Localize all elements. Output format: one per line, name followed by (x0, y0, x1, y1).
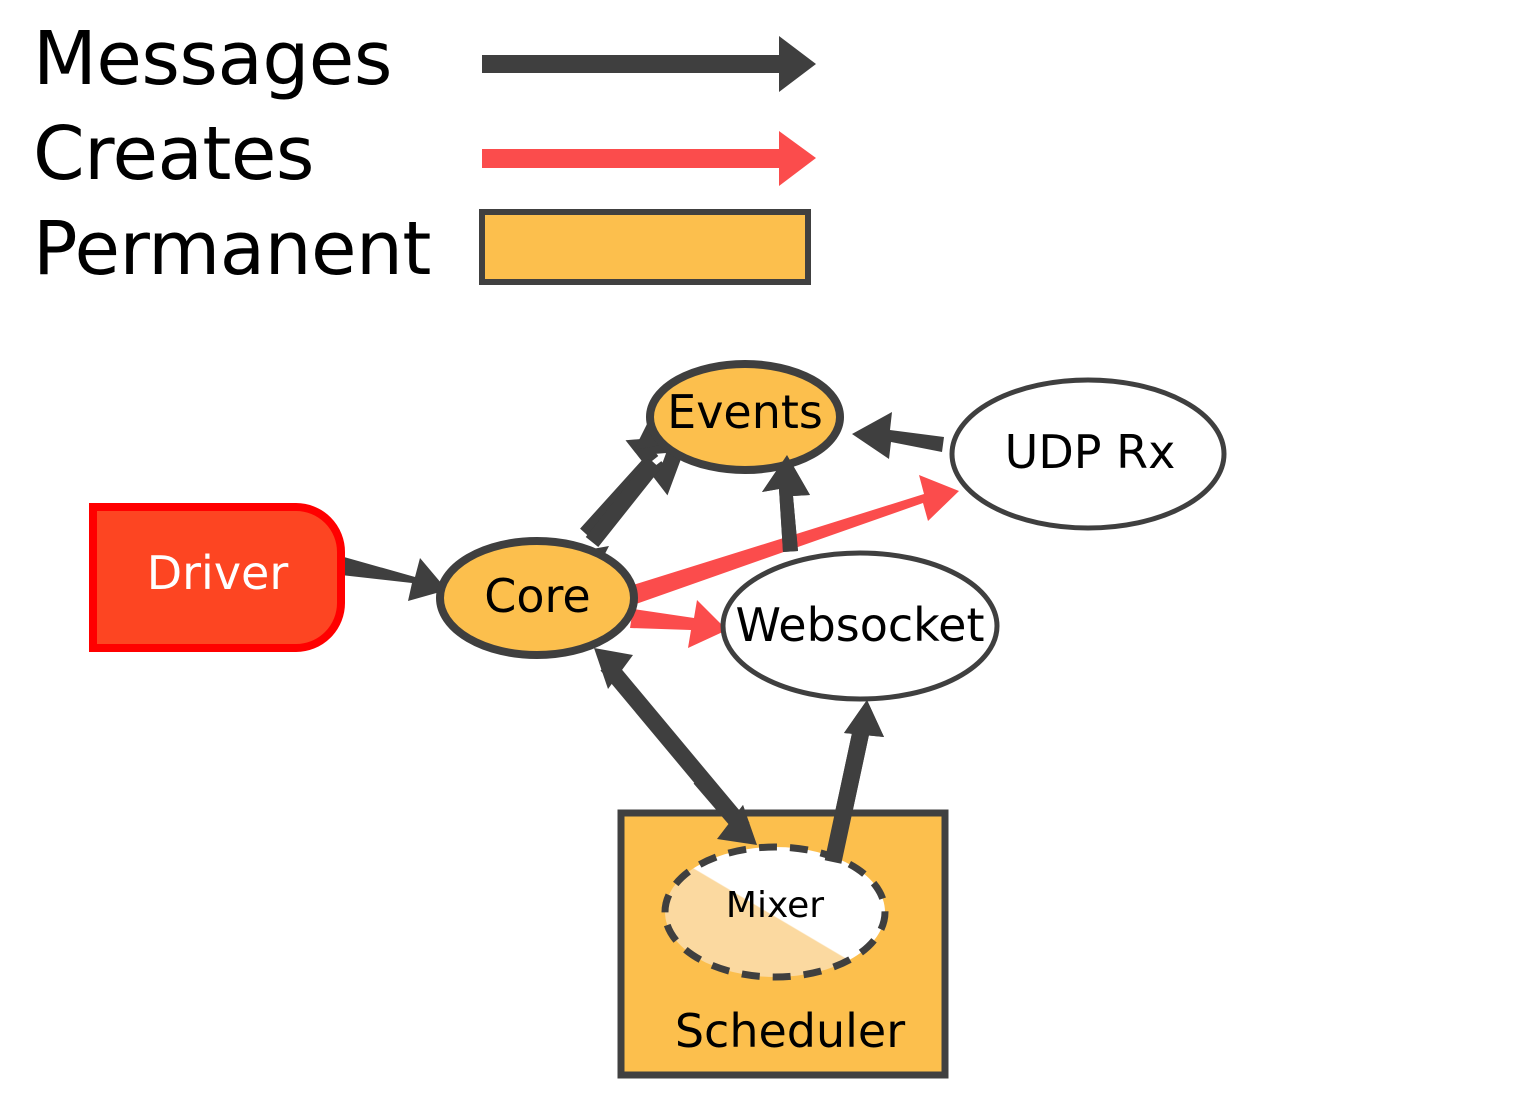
legend-permanent-swatch (482, 212, 808, 282)
legend-label-messages: Messages (33, 22, 392, 96)
diagram-canvas: Messages Creates Permanent Driver Events… (0, 0, 1525, 1096)
node-core[interactable] (440, 541, 634, 655)
node-driver[interactable] (93, 507, 341, 648)
node-websocket[interactable] (723, 553, 997, 699)
legend-label-permanent: Permanent (33, 212, 431, 286)
node-udp-rx[interactable] (952, 380, 1224, 528)
legend-messages-arrow (482, 36, 816, 92)
legend-label-creates: Creates (33, 117, 314, 191)
node-mixer[interactable] (665, 847, 885, 977)
edge-core-to-websocket-creates (630, 600, 727, 648)
node-events[interactable] (650, 364, 840, 470)
legend-creates-arrow (482, 131, 816, 186)
edge-driver-to-core-messages (341, 557, 447, 601)
edge-udprx-to-events-messages (852, 412, 944, 459)
